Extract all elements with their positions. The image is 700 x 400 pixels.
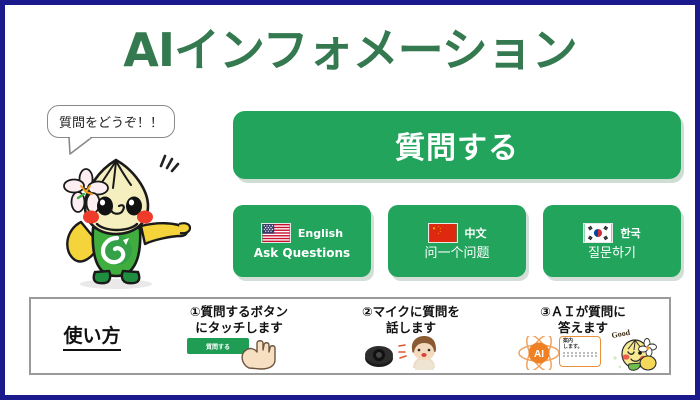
hand-touch-icon bbox=[237, 336, 277, 370]
howto-step-1: ①質問するボタン にタッチします 質問する bbox=[153, 299, 325, 373]
language-button-chinese-sub: 问一个问题 bbox=[424, 247, 489, 262]
ask-question-button[interactable]: 質問する bbox=[233, 111, 681, 179]
microphone-icon bbox=[363, 340, 395, 368]
happy-mascot-good-icon: Good bbox=[607, 328, 663, 374]
language-button-korean-header: 한국 bbox=[583, 223, 640, 243]
korea-flag-icon bbox=[583, 223, 613, 243]
speech-bubble: 質問をどうぞ！！ bbox=[47, 105, 175, 138]
howto-step-3: ③ＡＩが質問に 答えます AI 案内 します。 bbox=[497, 299, 669, 373]
speech-bubble-text: 質問をどうぞ！！ bbox=[59, 112, 163, 131]
ai-bubble-dotline-2 bbox=[563, 355, 597, 357]
language-buttons-row: English Ask Questions 中文 问一 bbox=[233, 205, 681, 285]
howto-step-1-text: ①質問するボタン にタッチします bbox=[153, 304, 325, 335]
kiosk-screen: AIインフォメーション 質問をどうぞ！！ bbox=[0, 0, 700, 400]
language-button-korean-sub: 질문하기 bbox=[588, 247, 636, 262]
language-button-english-header: English bbox=[261, 223, 343, 243]
language-button-english[interactable]: English Ask Questions bbox=[233, 205, 371, 277]
svg-text:Good: Good bbox=[611, 328, 631, 340]
howto-step-2: ②マイクに質問を 話します bbox=[325, 299, 497, 373]
woman-speaking-icon bbox=[397, 334, 441, 374]
mascot-block: 質問をどうぞ！！ bbox=[23, 93, 221, 293]
ask-question-button-label: 質問する bbox=[395, 123, 519, 167]
mini-ask-button-label: 質問する bbox=[206, 342, 230, 351]
svg-text:AI: AI bbox=[534, 349, 544, 360]
howto-label-cell: 使い方 bbox=[31, 299, 153, 373]
onion-mascot-icon bbox=[53, 148, 193, 290]
howto-step-3-art: AI 案内 します。 Good bbox=[497, 334, 669, 374]
howto-panel: 使い方 ①質問するボタン にタッチします 質問する ②マイクに質問を 話します bbox=[29, 297, 671, 375]
language-button-english-sub: Ask Questions bbox=[254, 247, 350, 261]
language-button-english-name: English bbox=[298, 227, 343, 240]
language-button-chinese-name: 中文 bbox=[465, 225, 487, 241]
howto-label: 使い方 bbox=[63, 321, 120, 351]
language-button-korean[interactable]: 한국 질문하기 bbox=[543, 205, 681, 277]
language-button-chinese-header: 中文 bbox=[428, 223, 487, 243]
howto-step-1-art: 質問する bbox=[153, 334, 325, 374]
ai-response-bubble: 案内 します。 bbox=[559, 336, 601, 367]
ai-bubble-dotline-1 bbox=[563, 352, 597, 354]
title-bar: AIインフォメーション bbox=[5, 11, 695, 83]
ai-response-bubble-text: 案内 します。 bbox=[563, 339, 597, 351]
us-flag-icon bbox=[261, 223, 291, 243]
language-button-korean-name: 한국 bbox=[620, 225, 640, 241]
page-title: AIインフォメーション bbox=[123, 14, 576, 80]
language-button-chinese[interactable]: 中文 问一个问题 bbox=[388, 205, 526, 277]
howto-step-2-text: ②マイクに質問を 話します bbox=[325, 304, 497, 335]
howto-step-2-art bbox=[325, 334, 497, 374]
china-flag-icon bbox=[428, 223, 458, 243]
ai-atom-icon: AI bbox=[517, 336, 561, 370]
